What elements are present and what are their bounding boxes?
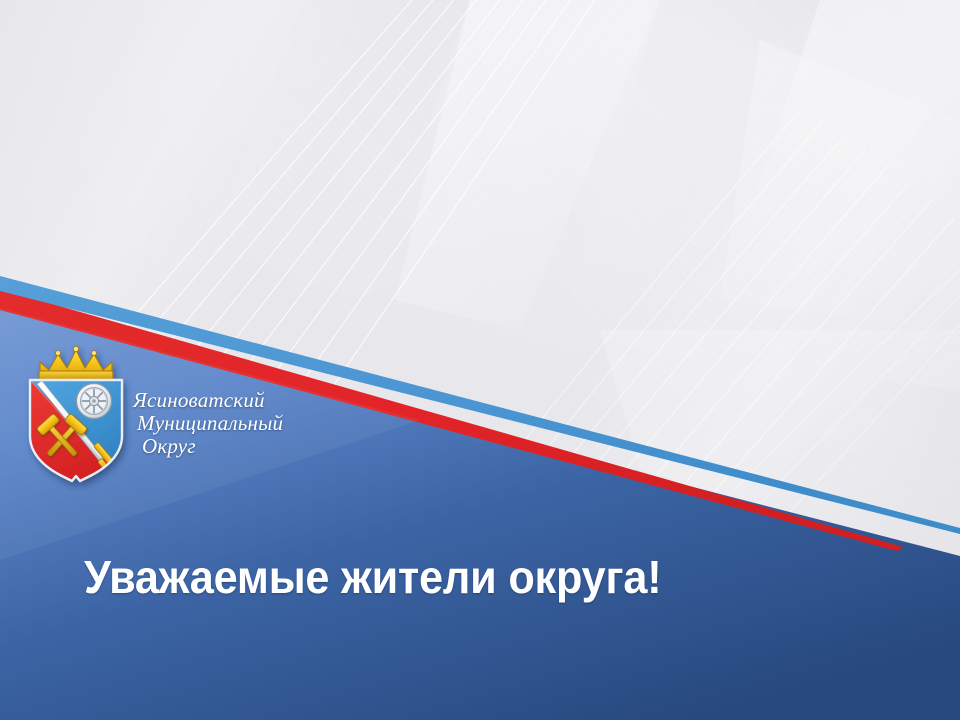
slide-headline: Уважаемые жители округа! [84, 552, 661, 602]
shield [18, 376, 134, 492]
emblem-group [18, 346, 134, 492]
coat-of-arms-svg [18, 340, 134, 500]
emblem-wordmark: Ясиноватский Муниципальный Округ [133, 389, 363, 458]
coat-of-arms [18, 340, 134, 500]
slide-canvas: Ясиноватский Муниципальный Округ Уважаем… [0, 0, 960, 720]
crown-icon [39, 346, 113, 380]
wordmark-line-3: Округ [133, 435, 363, 458]
diagonal-ribbon-band [0, 0, 960, 720]
railway-wheel-icon [77, 384, 112, 419]
wordmark-line-2: Муниципальный [133, 412, 363, 435]
wordmark-line-1: Ясиноватский [133, 389, 363, 412]
